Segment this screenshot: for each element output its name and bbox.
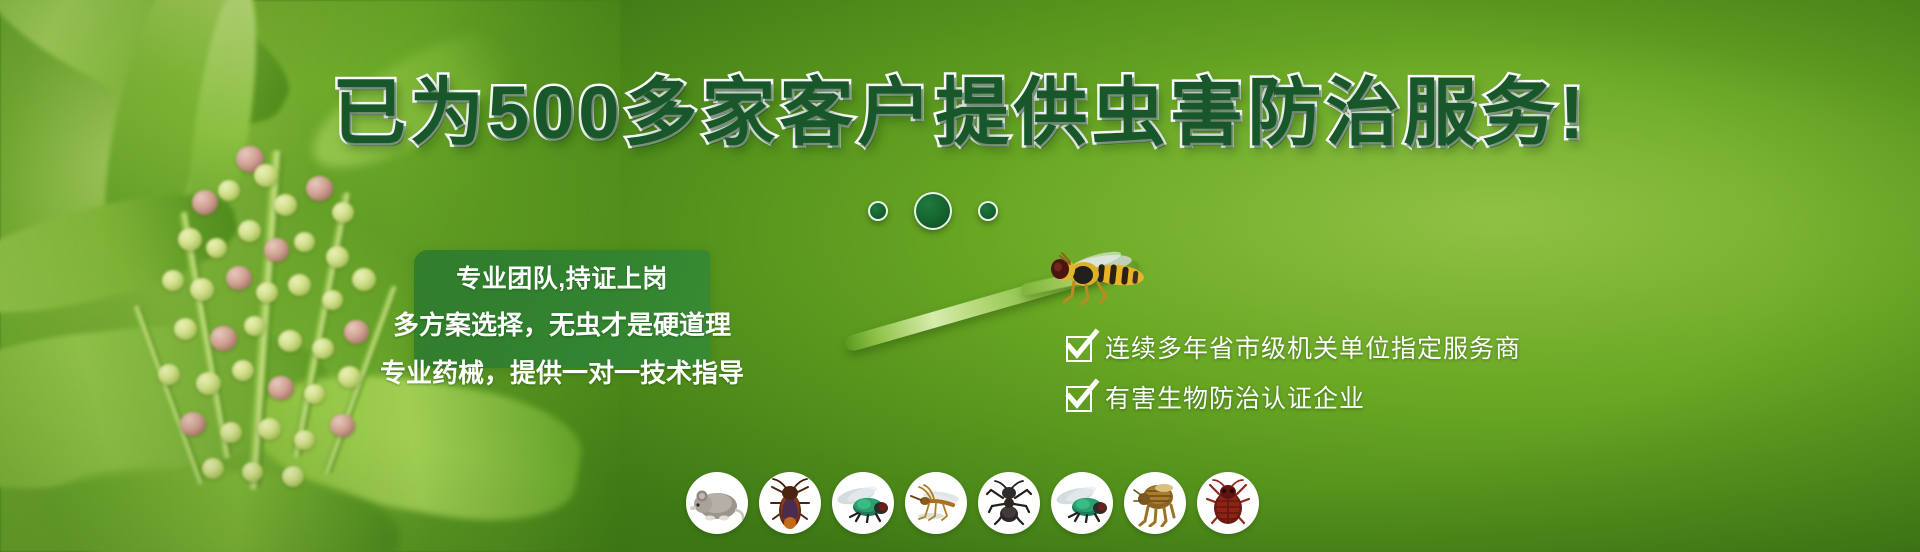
pest-icon-ant[interactable] (978, 472, 1040, 534)
certification-label: 连续多年省市级机关单位指定服务商 (1105, 337, 1521, 362)
list-item: 有害生物防治认证企业 (1066, 386, 1521, 412)
pest-icon-flea[interactable] (1124, 472, 1186, 534)
pest-icon-blowfly[interactable] (1051, 472, 1113, 534)
decorative-dot-group (868, 192, 998, 230)
hoverfly-illustration (1040, 248, 1158, 308)
banner-headline: 已为500多家客户提供虫害防治服务! (0, 76, 1920, 150)
dot-small-right-icon (978, 201, 998, 221)
certification-list: 连续多年省市级机关单位指定服务商 有害生物防治认证企业 (1066, 336, 1521, 436)
list-item: 连续多年省市级机关单位指定服务商 (1066, 336, 1521, 362)
checkbox-checked-icon (1066, 336, 1092, 362)
banner-headline-text: 已为500多家客户提供虫害防治服务! (332, 71, 1588, 154)
pest-icon-mouse[interactable] (686, 472, 748, 534)
promo-banner: 已为500多家客户提供虫害防治服务! (0, 0, 1920, 552)
features-panel-line-3: 专业药械，提供一对一技术指导 (334, 360, 790, 386)
pest-icon-cockroach[interactable] (759, 472, 821, 534)
features-panel: 专业团队,持证上岗 多方案选择，无虫才是硬道理 专业药械，提供一对一技术指导 (414, 250, 710, 368)
features-panel-line-2: 多方案选择，无虫才是硬道理 (346, 312, 778, 338)
pest-icon-mosquito[interactable] (905, 472, 967, 534)
dot-large-center-icon (914, 192, 952, 230)
certification-label: 有害生物防治认证企业 (1105, 387, 1365, 412)
pest-icon-fly[interactable] (832, 472, 894, 534)
pest-icon-bedbug[interactable] (1197, 472, 1259, 534)
pest-icon-row (686, 472, 1259, 534)
dot-small-left-icon (868, 201, 888, 221)
features-panel-line-1: 专业团队,持证上岗 (414, 267, 710, 292)
checkbox-checked-icon (1066, 386, 1092, 412)
